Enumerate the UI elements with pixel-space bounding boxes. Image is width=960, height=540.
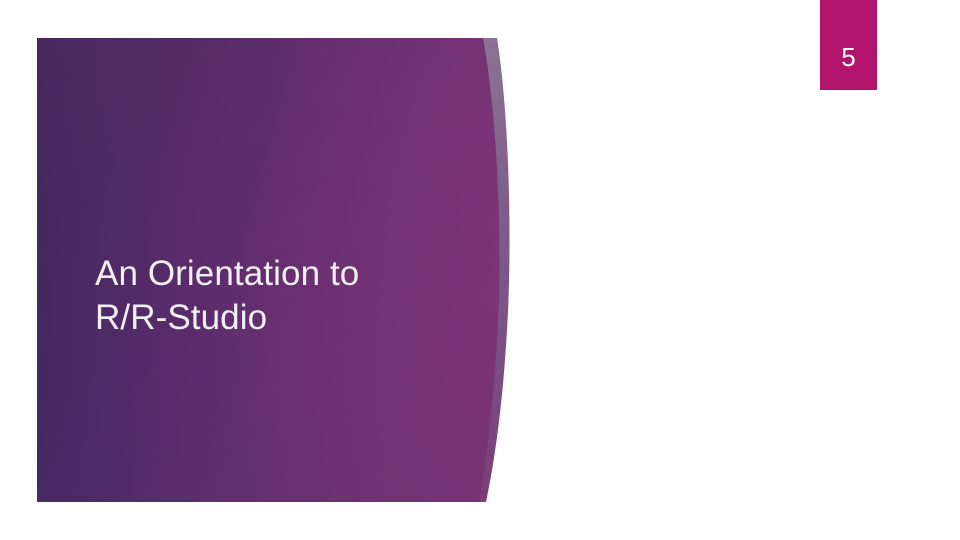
page-title: An Orientation to R/R-Studio (95, 252, 425, 341)
slide-canvas: An Orientation to R/R-Studio 5 (0, 0, 960, 540)
page-number-text: 5 (820, 44, 877, 70)
title-placeholder: An Orientation to R/R-Studio (95, 252, 425, 341)
page-number-badge: 5 (820, 0, 877, 90)
